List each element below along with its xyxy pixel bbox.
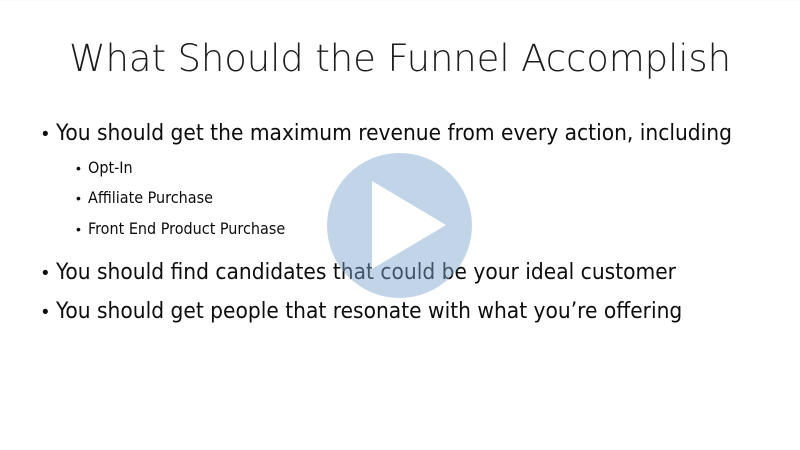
bullet-marker-icon: •: [76, 222, 88, 236]
bullet-item: • You should get people that resonate wi…: [40, 297, 760, 327]
slide-title: What Should the Funnel Accomplish: [0, 37, 800, 80]
bullet-text: You should get the maximum revenue from …: [56, 119, 760, 149]
video-player-frame: What Should the Funnel Accomplish • You …: [0, 0, 800, 450]
bullet-item: • You should get the maximum revenue fro…: [40, 119, 760, 149]
bullet-marker-icon: •: [42, 303, 56, 322]
bullet-marker-icon: •: [76, 191, 88, 205]
bullet-marker-icon: •: [42, 125, 56, 144]
bullet-marker-icon: •: [76, 161, 88, 175]
bullet-marker-icon: •: [42, 264, 56, 283]
bullet-text: You should get people that resonate with…: [56, 297, 760, 327]
play-triangle-icon: [372, 181, 446, 269]
play-button[interactable]: [327, 153, 472, 298]
